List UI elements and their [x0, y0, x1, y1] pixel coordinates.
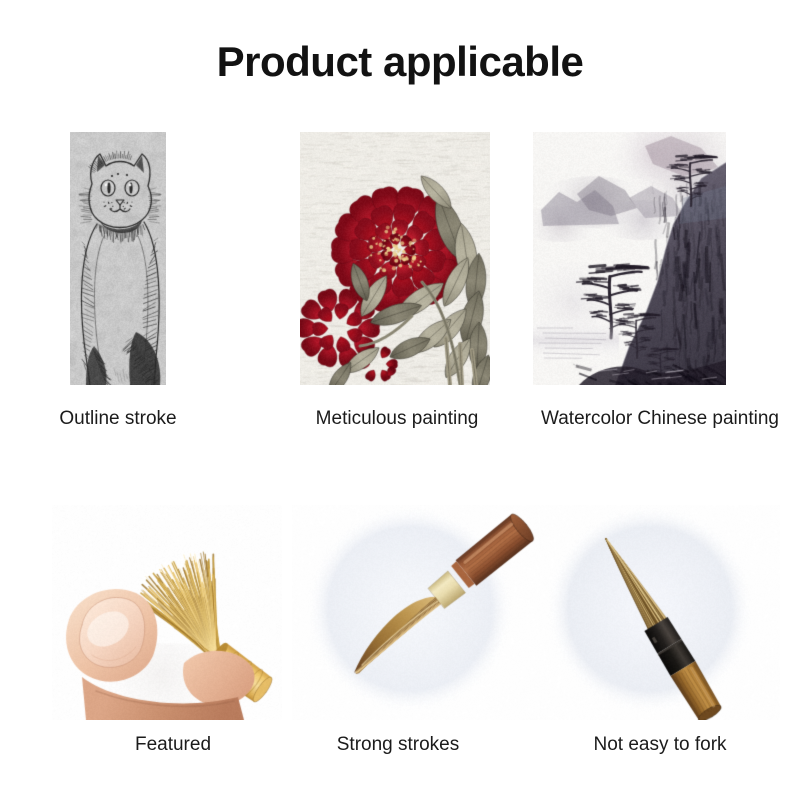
caption-meticulous-painting: Meticulous painting — [252, 407, 542, 431]
product-applicable-page: Product applicable Outline stroke Meticu… — [0, 0, 800, 800]
caption-strong-strokes: Strong strokes — [258, 733, 538, 757]
caption-not-easy-to-fork: Not easy to fork — [520, 733, 800, 757]
photo-not-easy-to-fork — [540, 505, 780, 720]
artwork-outline-stroke — [70, 132, 166, 385]
caption-outline-stroke: Outline stroke — [0, 407, 236, 431]
feature-photo-row — [0, 505, 800, 720]
application-artwork-row — [0, 132, 800, 385]
caption-featured: Featured — [60, 733, 286, 757]
artwork-watercolor-landscape — [533, 132, 726, 385]
artwork-meticulous-painting — [300, 132, 490, 385]
caption-watercolor-chinese-painting: Watercolor Chinese painting — [520, 407, 800, 431]
page-title: Product applicable — [0, 36, 800, 88]
photo-strong-strokes — [292, 505, 542, 720]
photo-featured — [52, 505, 282, 720]
